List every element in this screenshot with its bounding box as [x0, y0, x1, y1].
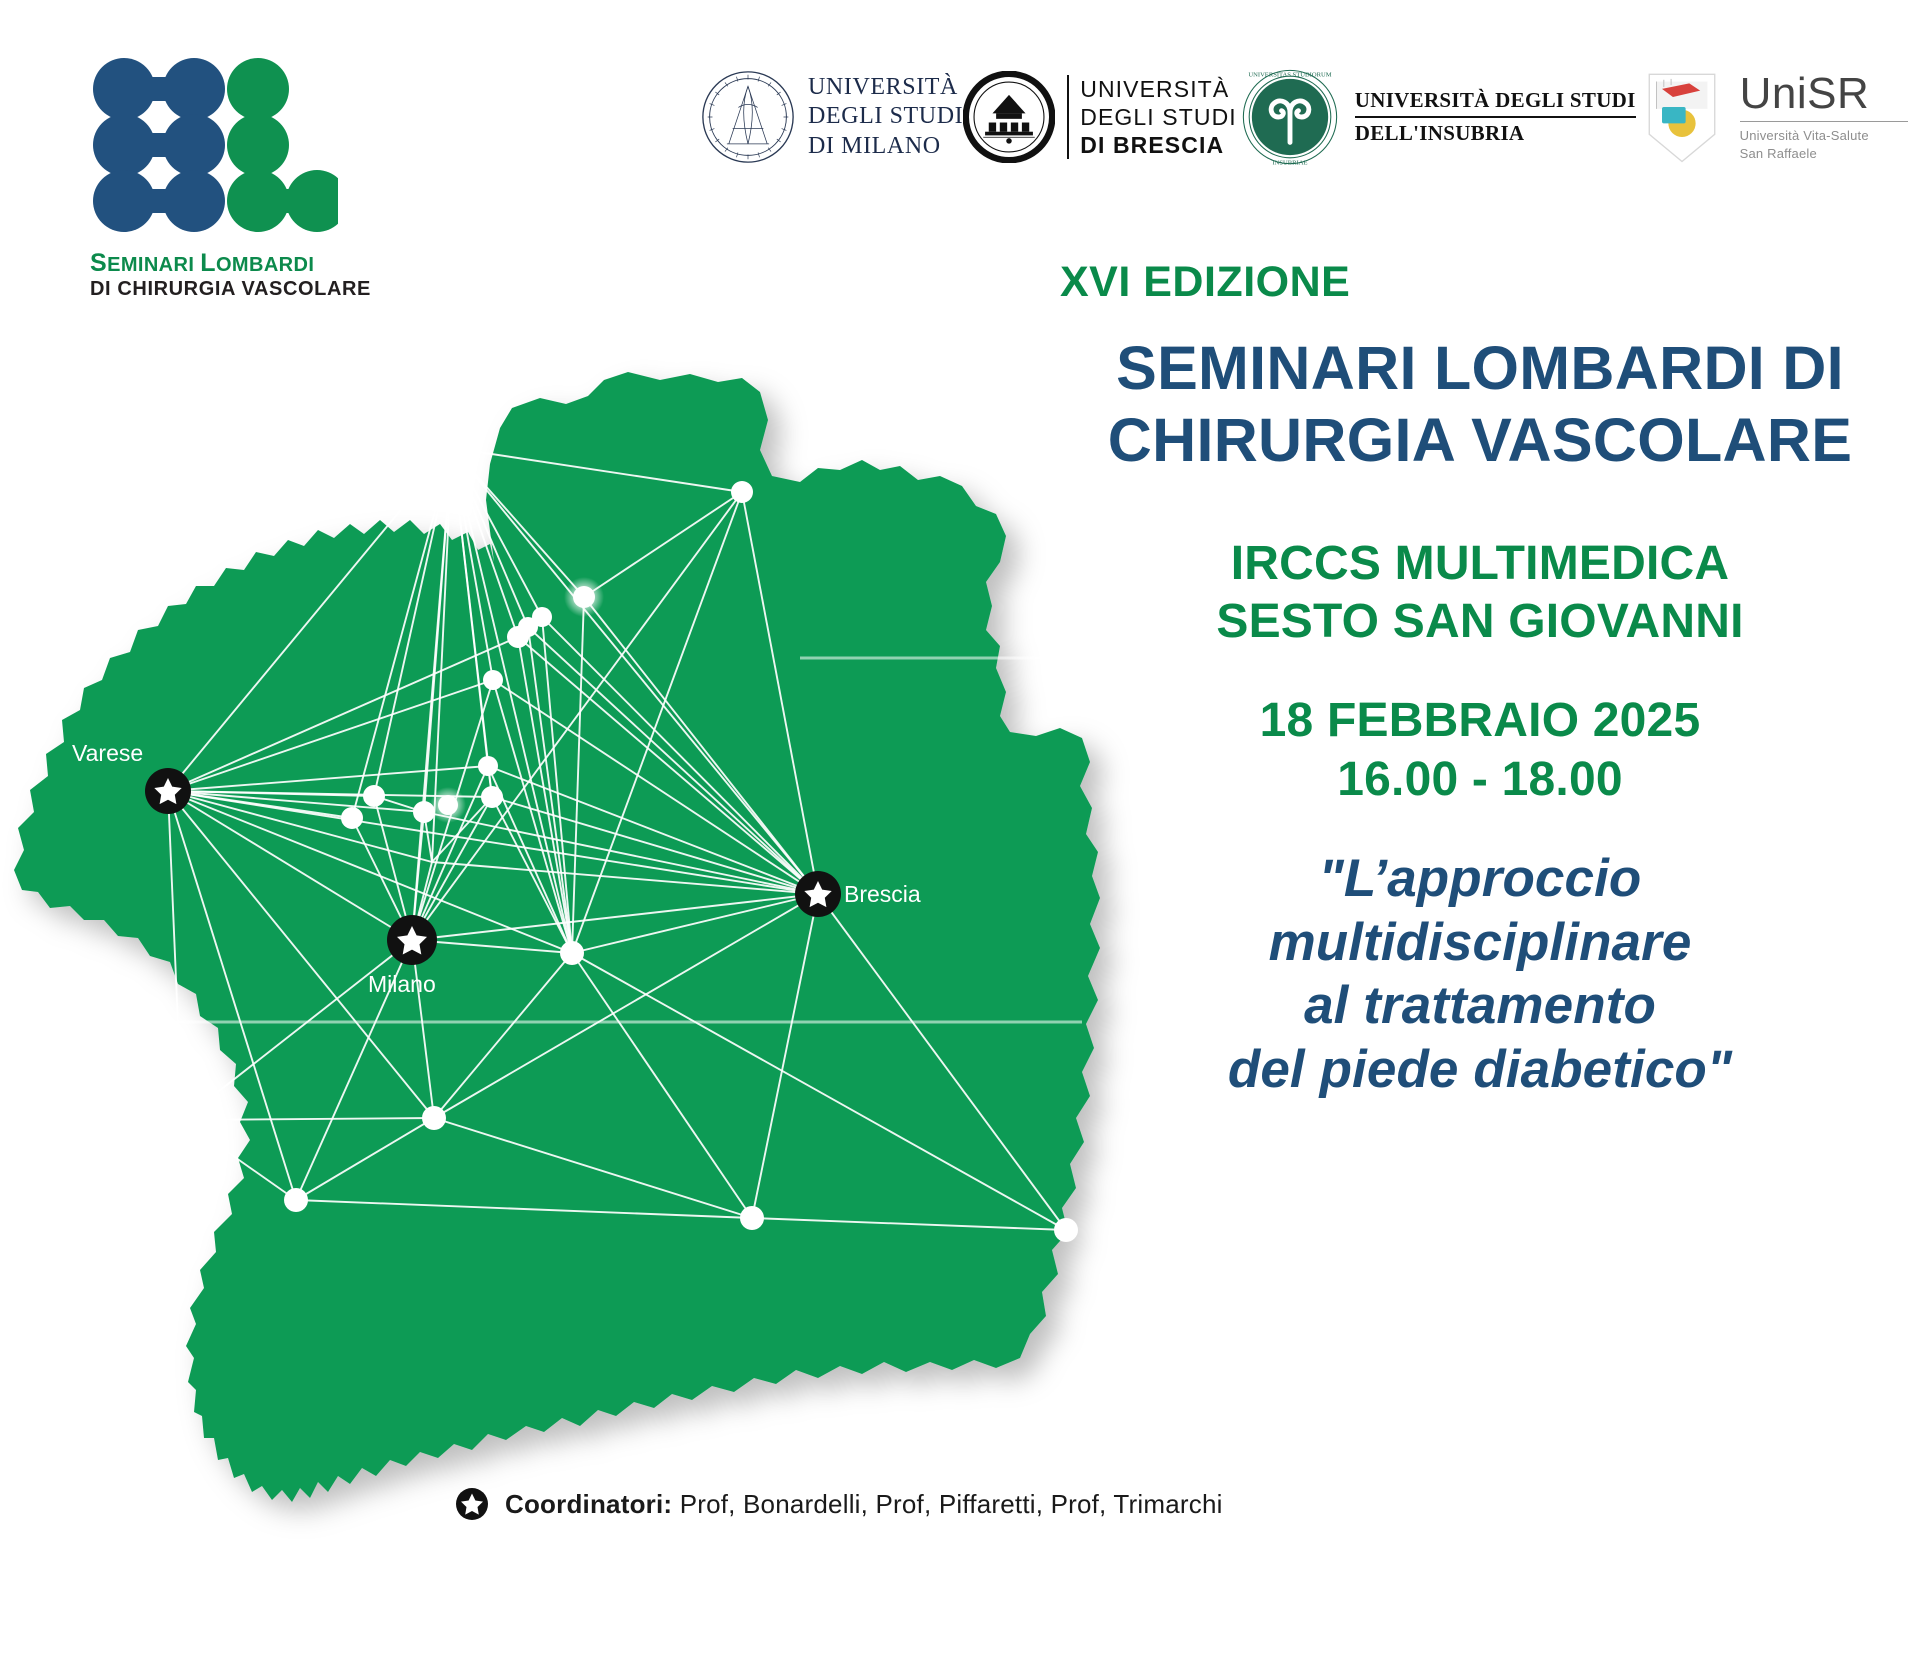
brescia-line-3: DI BRESCIA [1080, 131, 1237, 159]
subject-line-3: al trattamento [1040, 974, 1920, 1038]
brescia-line-1: UNIVERSITÀ [1080, 75, 1237, 103]
brand-l1d: OMBARDI [216, 254, 314, 276]
subject-line-1: "L’approccio [1040, 847, 1920, 911]
datetime-block: 18 FEBBRAIO 2025 16.00 - 18.00 [1040, 692, 1920, 809]
map-node [483, 670, 503, 690]
coordinators-legend: Coordinatori: Prof, Bonardelli, Prof, Pi… [455, 1487, 1223, 1521]
venue-line-2: SESTO SAN GIOVANNI [1040, 593, 1920, 652]
unisr-line-2: San Raffaele [1740, 145, 1908, 163]
milano-wordmark: UNIVERSITÀ DEGLI STUDI DI MILANO [808, 73, 963, 161]
title-line-2: CHIRURGIA VASCOLARE [1040, 405, 1920, 477]
unisr-line-1: Università Vita-Salute [1740, 127, 1908, 145]
brescia-line-2: DEGLI STUDI [1080, 103, 1237, 131]
brand-l1b: EMINARI [107, 254, 200, 276]
insubria-seal-icon: UNIVERSITAS STUDIORUM INSUBRIAE [1237, 64, 1343, 170]
insubria-line-1: UNIVERSITÀ DEGLI STUDI [1355, 88, 1636, 118]
milano-line-3: DI MILANO [808, 132, 963, 161]
map-node [573, 586, 595, 608]
unisr-wordmark: UniSR Università Vita-Salute San Raffael… [1740, 72, 1908, 162]
coordinators-names: Prof, Bonardelli, Prof, Piffaretti, Prof… [680, 1489, 1223, 1519]
subject-line-2: multidisciplinare [1040, 911, 1920, 975]
milano-line-1: UNIVERSITÀ [808, 73, 963, 102]
sl-monogram-icon [88, 55, 338, 235]
milano-seal-icon [700, 69, 796, 165]
star-marker-icon [455, 1487, 489, 1521]
university-logo-unisr: UniSR Università Vita-Salute San Raffael… [1636, 67, 1908, 167]
university-logo-brescia: UNIVERSITÀ DEGLI STUDI DI BRESCIA [963, 71, 1237, 163]
map-node [170, 1108, 194, 1132]
insubria-wordmark: UNIVERSITÀ DEGLI STUDI DELL'INSUBRIA [1355, 88, 1636, 146]
brand-l1a: S [90, 249, 107, 277]
venue-line-1: IRCCS MULTIMEDICA [1040, 535, 1920, 594]
brand-l1c: L [200, 249, 216, 277]
map-node [284, 1188, 308, 1212]
unisr-divider [1740, 121, 1908, 122]
subject-line-4: del piede diabetico" [1040, 1038, 1920, 1102]
poster-text-column: XVI EDIZIONE SEMINARI LOMBARDI DI CHIRUR… [1040, 258, 1920, 1102]
city-label-milano: Milano [368, 971, 436, 997]
map-node [478, 756, 498, 776]
university-logo-strip: UNIVERSITÀ DEGLI STUDI DI MILANO [700, 52, 1880, 182]
brand-line-1: SEMINARI LOMBARDI [90, 250, 390, 277]
brand-logo: SEMINARI LOMBARDI DI CHIRURGIA VASCOLARE [88, 55, 388, 305]
brand-line-2: DI CHIRURGIA VASCOLARE [90, 277, 390, 302]
map-node [731, 481, 753, 503]
event-date: 18 FEBBRAIO 2025 [1040, 692, 1920, 751]
unisr-crest-icon [1636, 67, 1728, 167]
subject-block: "L’approccio multidisciplinare al tratta… [1040, 847, 1920, 1101]
city-label-brescia: Brescia [844, 881, 921, 907]
svg-text:UNIVERSITAS STUDIORUM: UNIVERSITAS STUDIORUM [1248, 72, 1331, 79]
insubria-line-2: DELL'INSUBRIA [1355, 118, 1636, 147]
brescia-seal-icon [963, 71, 1055, 163]
map-node [507, 626, 529, 648]
map-node [740, 1206, 764, 1230]
map-node [441, 437, 463, 459]
map-node [422, 1106, 446, 1130]
brescia-wordmark: UNIVERSITÀ DEGLI STUDI DI BRESCIA [1067, 75, 1237, 159]
title-line-1: SEMINARI LOMBARDI DI [1040, 333, 1920, 405]
map-node [481, 786, 503, 808]
coordinators-text: Coordinatori: Prof, Bonardelli, Prof, Pi… [505, 1489, 1223, 1520]
unisr-name: UniSR [1740, 72, 1908, 116]
event-time: 16.00 - 18.00 [1040, 751, 1920, 810]
map-node [438, 795, 458, 815]
map-node [363, 785, 385, 807]
page-title: SEMINARI LOMBARDI DI CHIRURGIA VASCOLARE [1040, 333, 1920, 477]
edition-label: XVI EDIZIONE [1060, 258, 1920, 307]
map-node [413, 801, 435, 823]
city-label-varese: Varese [72, 740, 143, 766]
coordinators-label: Coordinatori: [505, 1489, 672, 1519]
university-logo-milano: UNIVERSITÀ DEGLI STUDI DI MILANO [700, 69, 963, 165]
map-node [560, 941, 584, 965]
map-node [1054, 1218, 1078, 1242]
venue-block: IRCCS MULTIMEDICA SESTO SAN GIOVANNI [1040, 535, 1920, 652]
brand-wordmark: SEMINARI LOMBARDI DI CHIRURGIA VASCOLARE [90, 250, 390, 302]
svg-text:INSUBRIAE: INSUBRIAE [1272, 160, 1307, 167]
map-node [341, 807, 363, 829]
milano-line-2: DEGLI STUDI [808, 102, 963, 131]
university-logo-insubria: UNIVERSITAS STUDIORUM INSUBRIAE UNIVERSI… [1237, 64, 1636, 170]
